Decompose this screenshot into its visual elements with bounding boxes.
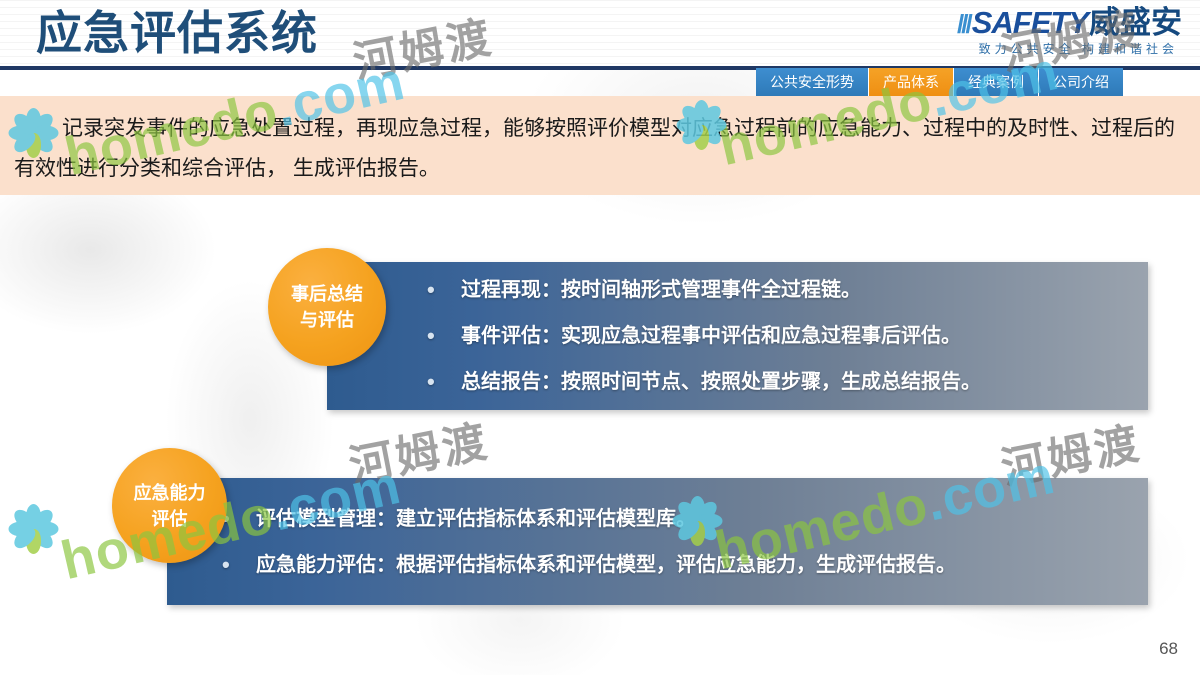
nav-item-product-system[interactable]: 产品体系 [869, 68, 954, 96]
nav-item-public-safety[interactable]: 公共安全形势 [756, 68, 869, 96]
list-item: • 事件评估：实现应急过程事中评估和应急过程事后评估。 [427, 313, 1138, 359]
bullet-dot-icon: • [427, 267, 461, 313]
slide-header: 应急评估系统 ///SAFETY威盛安 致力公共安全 构建和谐社会 [0, 0, 1200, 68]
bullet-dot-icon: • [222, 496, 256, 542]
brand-name-cn: 威盛安 [1089, 5, 1182, 40]
badge-line-1: 事后总结 [291, 281, 363, 307]
panel-2-bullet-list: • 评估模型管理：建立评估指标体系和评估模型库。 • 应急能力评估：根据评估指标… [222, 478, 1138, 605]
badge-line-2: 评估 [134, 506, 206, 532]
page-title: 应急评估系统 [36, 2, 318, 64]
panel-post-event-summary: • 过程再现：按时间轴形式管理事件全过程链。 • 事件评估：实现应急过程事中评估… [327, 262, 1148, 410]
list-item: • 评估模型管理：建立评估指标体系和评估模型库。 [222, 496, 1138, 542]
brand-swoosh-icon: /// [957, 9, 970, 39]
list-item-label: 评估模型管理：建立评估指标体系和评估模型库。 [256, 496, 1138, 542]
list-item: • 总结报告：按照时间节点、按照处置步骤，生成总结报告。 [427, 359, 1138, 405]
watermark-flower-logo [4, 500, 62, 558]
list-item-label: 总结报告：按照时间节点、按照处置步骤，生成总结报告。 [461, 359, 1138, 405]
brand-logo-main: ///SAFETY威盛安 [902, 6, 1182, 41]
page-number: 68 [1159, 639, 1178, 659]
nav-item-classic-cases[interactable]: 经典案例 [954, 68, 1039, 96]
list-item-label: 应急能力评估：根据评估指标体系和评估模型，评估应急能力，生成评估报告。 [256, 542, 1138, 588]
brand-tagline: 致力公共安全 构建和谐社会 [902, 41, 1182, 58]
panel-1-bullet-list: • 过程再现：按时间轴形式管理事件全过程链。 • 事件评估：实现应急过程事中评估… [427, 262, 1138, 410]
list-item: • 过程再现：按时间轴形式管理事件全过程链。 [427, 267, 1138, 313]
badge-line-1: 应急能力 [134, 480, 206, 506]
list-item: • 应急能力评估：根据评估指标体系和评估模型，评估应急能力，生成评估报告。 [222, 542, 1138, 588]
list-item-label: 过程再现：按时间轴形式管理事件全过程链。 [461, 267, 1138, 313]
bullet-dot-icon: • [427, 359, 461, 405]
intro-banner: 记录突发事件的应急处置过程，再现应急过程，能够按照评价模型对应急过程前的应急能力… [0, 96, 1200, 195]
bullet-dot-icon: • [427, 313, 461, 359]
bullet-dot-icon: • [222, 542, 256, 588]
brand-name-en: SAFETY [972, 5, 1088, 40]
flower-icon [4, 500, 62, 558]
brand-logo: ///SAFETY威盛安 致力公共安全 构建和谐社会 [902, 6, 1182, 64]
list-item-label: 事件评估：实现应急过程事中评估和应急过程事后评估。 [461, 313, 1138, 359]
panel-emergency-capability: • 评估模型管理：建立评估指标体系和评估模型库。 • 应急能力评估：根据评估指标… [167, 478, 1148, 605]
nav-item-company-intro[interactable]: 公司介绍 [1039, 68, 1123, 96]
badge-line-2: 与评估 [291, 307, 363, 333]
badge-emergency-capability: 应急能力 评估 [112, 448, 227, 563]
badge-post-event-summary: 事后总结 与评估 [268, 248, 386, 366]
top-navigation: 公共安全形势 产品体系 经典案例 公司介绍 [756, 68, 1123, 96]
intro-banner-text: 记录突发事件的应急处置过程，再现应急过程，能够按照评价模型对应急过程前的应急能力… [14, 109, 1190, 189]
